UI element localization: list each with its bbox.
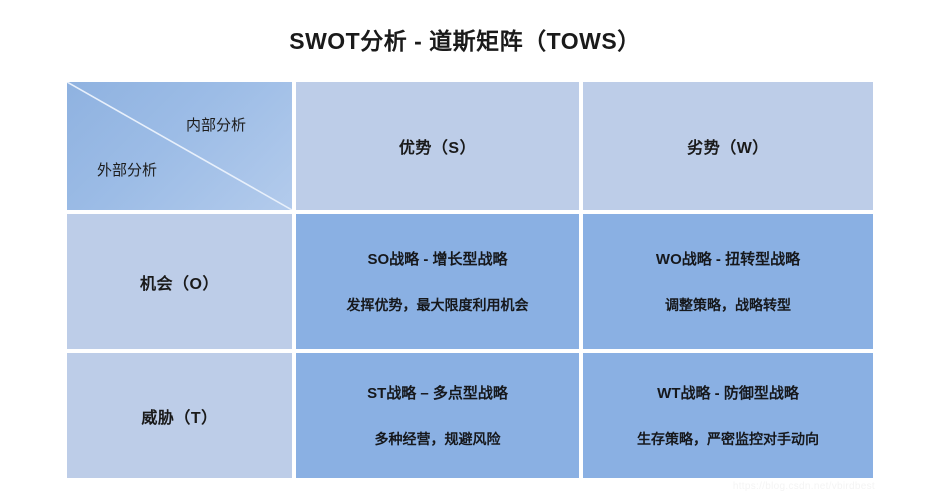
matrix-cell-wo-desc: 调整策略，战略转型 xyxy=(665,295,791,315)
row-header-threats-label: 威胁（T） xyxy=(141,404,217,428)
matrix-cell-wt-title: WT战略 - 防御型战略 xyxy=(657,382,799,403)
column-header-strengths-label: 优势（S） xyxy=(399,134,476,158)
matrix-cell-so-desc: 发挥优势，最大限度利用机会 xyxy=(347,295,529,315)
external-analysis-label: 外部分析 xyxy=(97,159,157,180)
diagonal-divider-icon xyxy=(67,82,292,210)
matrix-cell-wo-title: WO战略 - 扭转型战略 xyxy=(656,248,800,269)
matrix-cell-st: ST战略 – 多点型战略 多种经营，规避风险 xyxy=(296,353,579,478)
matrix-cell-st-title: ST战略 – 多点型战略 xyxy=(367,382,508,403)
matrix-cell-wt-desc: 生存策略，严密监控对手动向 xyxy=(637,429,819,449)
swot-tows-matrix: 内部分析 外部分析 优势（S） 劣势（W） 机会（O） SO战略 - 增长型战略… xyxy=(67,82,865,470)
row-header-opportunities-label: 机会（O） xyxy=(140,270,219,294)
source-watermark: https://blog.csdn.net/vbirdbest xyxy=(733,481,875,492)
matrix-cell-wt: WT战略 - 防御型战略 生存策略，严密监控对手动向 xyxy=(583,353,873,478)
page-title: SWOT分析 - 道斯矩阵（TOWS） xyxy=(0,22,930,56)
matrix-cell-st-desc: 多种经营，规避风险 xyxy=(375,429,501,449)
matrix-cell-so-title: SO战略 - 增长型战略 xyxy=(367,248,507,269)
column-header-weaknesses: 劣势（W） xyxy=(583,82,873,210)
row-header-opportunities: 机会（O） xyxy=(67,214,292,349)
column-header-weaknesses-label: 劣势（W） xyxy=(687,134,769,158)
internal-analysis-label: 内部分析 xyxy=(186,114,246,135)
matrix-corner-cell: 内部分析 外部分析 xyxy=(67,82,292,210)
column-header-strengths: 优势（S） xyxy=(296,82,579,210)
matrix-cell-wo: WO战略 - 扭转型战略 调整策略，战略转型 xyxy=(583,214,873,349)
row-header-threats: 威胁（T） xyxy=(67,353,292,478)
matrix-cell-so: SO战略 - 增长型战略 发挥优势，最大限度利用机会 xyxy=(296,214,579,349)
